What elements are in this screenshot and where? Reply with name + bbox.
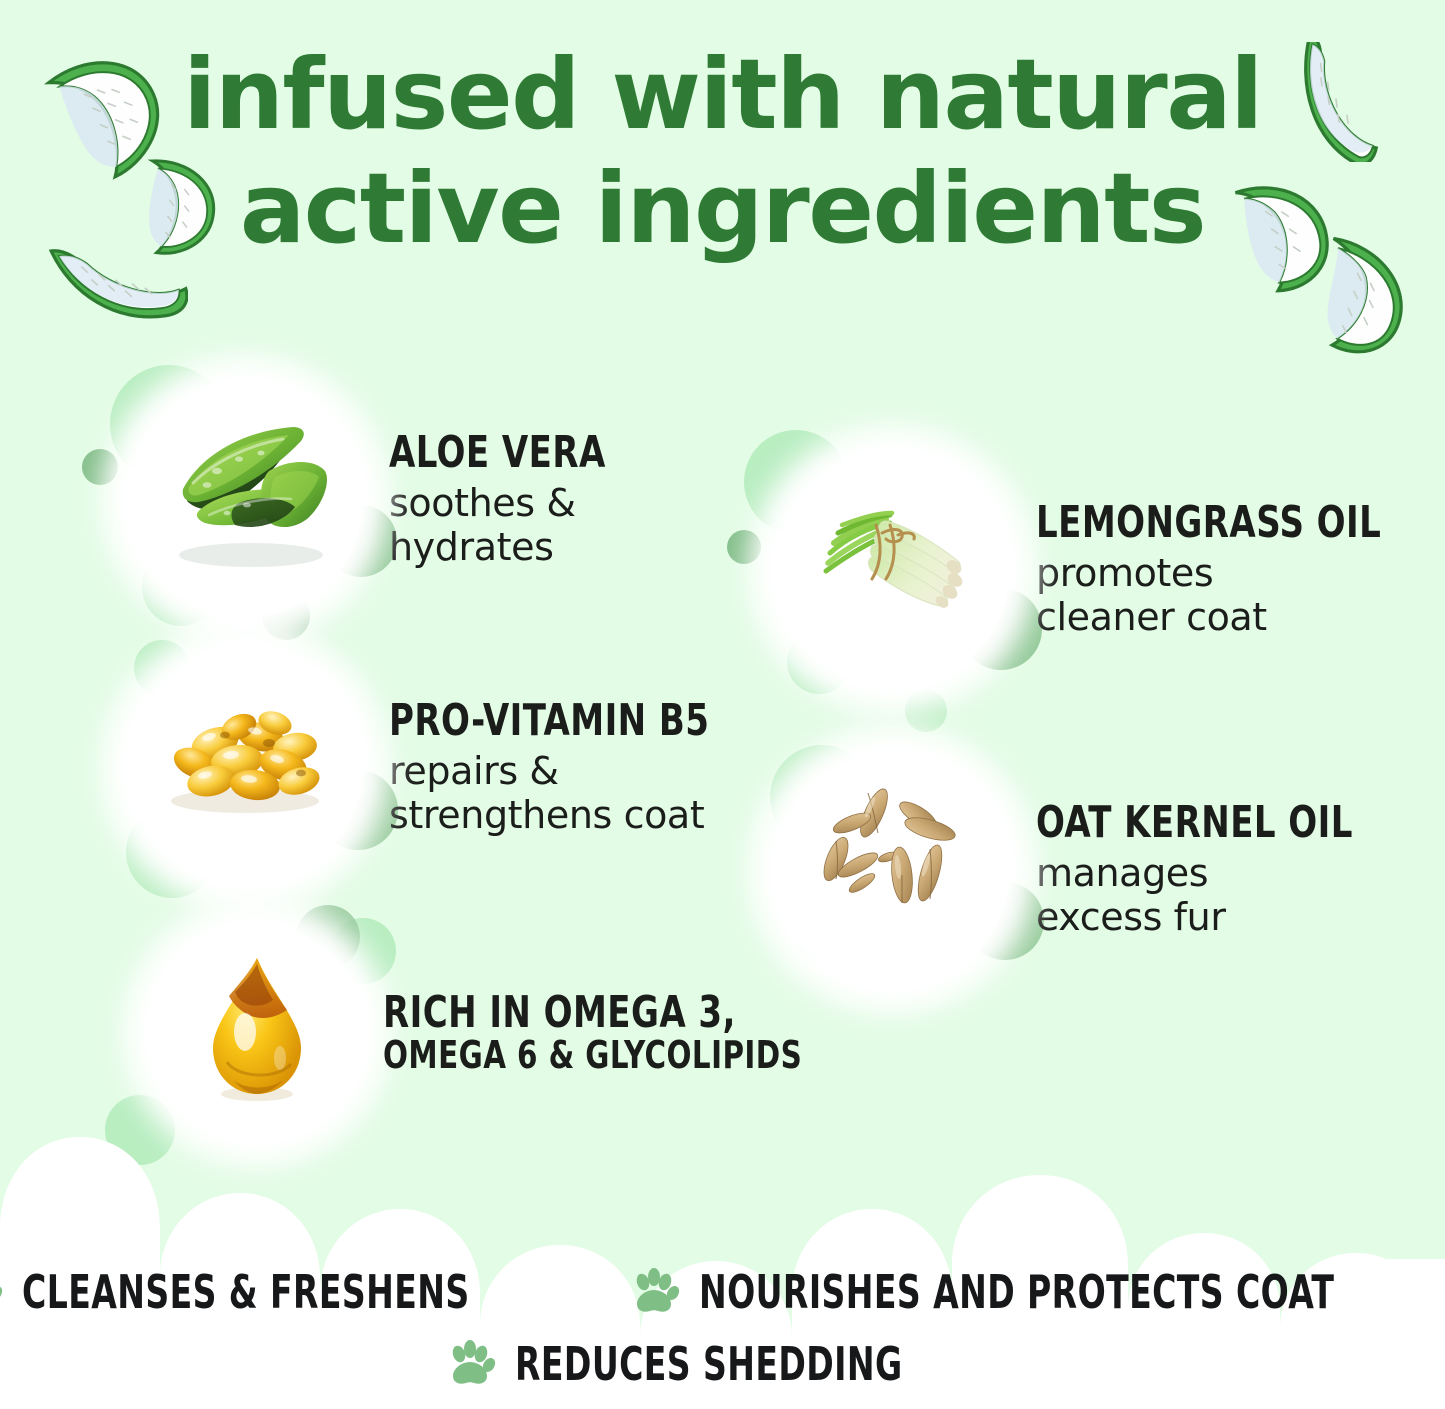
aloe-vera-photo bbox=[128, 382, 363, 617]
benefit-cleanses-freshens: CLEANSES & FRESHENS bbox=[0, 1265, 581, 1319]
aloe-vera-text: ALOE VERA soothes & hydrates bbox=[389, 430, 641, 570]
benefits-section: CLEANSES & FRESHENS NOURISHES AND PROTEC… bbox=[0, 1265, 1445, 1401]
benefits-row-1: CLEANSES & FRESHENS NOURISHES AND PROTEC… bbox=[0, 1265, 1445, 1319]
paw-icon bbox=[445, 1338, 497, 1390]
pro-vitamin-b5-desc-line-2: strengthens coat bbox=[389, 793, 762, 837]
lemongrass-oil-description: promotes cleaner coat bbox=[1036, 551, 1437, 639]
benefit-nourishes-protects-coat: NOURISHES AND PROTECTS COAT bbox=[629, 1265, 1445, 1319]
benefits-row-2: REDUCES SHEDDING bbox=[0, 1337, 1445, 1391]
ingredient-lemongrass-oil: LEMONGRASS OIL promotes cleaner coat bbox=[775, 452, 1437, 687]
benefit-reduces-shedding: REDUCES SHEDDING bbox=[445, 1337, 999, 1391]
ingredient-pro-vitamin-b5: PRO-VITAMIN B5 repairs & strengthens coa… bbox=[128, 650, 762, 885]
aloe-vera-illustration bbox=[143, 397, 348, 602]
aloe-vera-desc-line-2: hydrates bbox=[389, 525, 641, 569]
pro-vitamin-b5-description: repairs & strengthens coat bbox=[389, 749, 762, 837]
oil-droplet-photo bbox=[150, 925, 365, 1140]
gel-capsules-illustration bbox=[143, 665, 348, 870]
page-title-line-1: infused with natural bbox=[0, 38, 1445, 152]
paw-icon bbox=[0, 1266, 4, 1318]
aloe-vera-title: ALOE VERA bbox=[389, 430, 606, 476]
benefit-label: CLEANSES & FRESHENS bbox=[22, 1265, 470, 1319]
oat-kernel-oil-text: OAT KERNEL OIL manages excess fur bbox=[1036, 800, 1404, 940]
page-title-line-2: active ingredients bbox=[0, 152, 1445, 266]
lemongrass-oil-desc-line-2: cleaner coat bbox=[1036, 595, 1437, 639]
infographic-canvas: infused with natural active ingredients bbox=[0, 0, 1445, 1409]
page-title: infused with natural active ingredients bbox=[0, 38, 1445, 267]
omega-title-line-2: OMEGA 6 & GLYCOLIPIDS bbox=[383, 1036, 802, 1076]
decor-dot bbox=[82, 449, 118, 485]
lemongrass-oil-title: LEMONGRASS OIL bbox=[1036, 500, 1381, 546]
oat-kernel-oil-desc-line-1: manages bbox=[1036, 851, 1404, 895]
ingredient-omega: RICH IN OMEGA 3, OMEGA 6 & GLYCOLIPIDS bbox=[150, 925, 870, 1140]
pro-vitamin-b5-desc-line-1: repairs & bbox=[389, 749, 762, 793]
ingredient-aloe-vera: ALOE VERA soothes & hydrates bbox=[128, 382, 641, 617]
omega-title-line-1: RICH IN OMEGA 3, bbox=[383, 987, 736, 1038]
benefit-label: NOURISHES AND PROTECTS COAT bbox=[699, 1265, 1334, 1319]
aloe-vera-desc-line-1: soothes & bbox=[389, 481, 641, 525]
benefit-label: REDUCES SHEDDING bbox=[515, 1337, 903, 1391]
lemongrass-illustration bbox=[790, 467, 995, 672]
ingredient-oat-kernel-oil: OAT KERNEL OIL manages excess fur bbox=[775, 752, 1404, 987]
omega-title: RICH IN OMEGA 3, OMEGA 6 & GLYCOLIPIDS bbox=[383, 990, 802, 1075]
paw-icon bbox=[629, 1266, 681, 1318]
lemongrass-photo bbox=[775, 452, 1010, 687]
oil-droplet-illustration bbox=[155, 930, 360, 1135]
oat-kernel-oil-desc-line-2: excess fur bbox=[1036, 895, 1404, 939]
oat-kernel-oil-description: manages excess fur bbox=[1036, 851, 1404, 939]
decor-dot bbox=[905, 690, 947, 732]
aloe-vera-description: soothes & hydrates bbox=[389, 481, 641, 569]
oat-kernel-oil-title: OAT KERNEL OIL bbox=[1036, 800, 1353, 846]
lemongrass-oil-text: LEMONGRASS OIL promotes cleaner coat bbox=[1036, 500, 1437, 640]
decor-dot bbox=[727, 530, 761, 564]
gel-capsules-photo bbox=[128, 650, 363, 885]
lemongrass-oil-desc-line-1: promotes bbox=[1036, 551, 1437, 595]
oat-kernels-photo bbox=[775, 752, 1010, 987]
pro-vitamin-b5-title: PRO-VITAMIN B5 bbox=[389, 698, 709, 744]
pro-vitamin-b5-text: PRO-VITAMIN B5 repairs & strengthens coa… bbox=[389, 698, 762, 838]
omega-text: RICH IN OMEGA 3, OMEGA 6 & GLYCOLIPIDS bbox=[383, 990, 870, 1075]
oat-kernels-illustration bbox=[790, 767, 995, 972]
